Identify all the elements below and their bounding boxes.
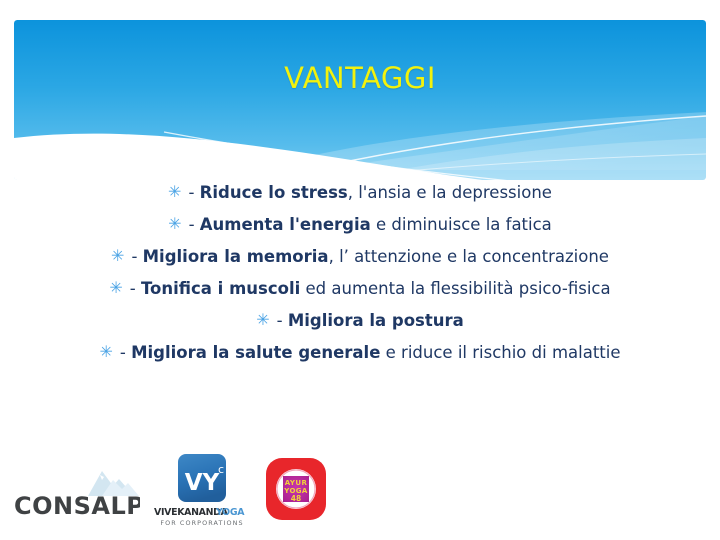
- page-title: VANTAGGI: [14, 61, 706, 95]
- list-item-prefix: -: [188, 183, 199, 202]
- list-item-rest: , l'ansia e la depressione: [348, 183, 552, 202]
- list-item-rest: , l’ attenzione e la concentrazione: [329, 247, 609, 266]
- vyc-tagline: FOR CORPORATIONS: [160, 519, 243, 527]
- vyc-name-accent: YOGA: [215, 507, 245, 518]
- asterisk-bullet-icon: ✳: [109, 278, 122, 297]
- list-item-text: - Tonifica i muscoli ed aumenta la fless…: [130, 279, 611, 298]
- asterisk-bullet-icon: ✳: [168, 182, 181, 201]
- list-item-rest: e riduce il rischio di malattie: [380, 343, 620, 362]
- list-item-emphasis: Migliora la memoria: [143, 247, 329, 266]
- asterisk-bullet-icon: ✳: [99, 342, 112, 361]
- asterisk-bullet-icon: ✳: [168, 214, 181, 233]
- list-item: ✳- Riduce lo stress, l'ansia e la depres…: [14, 176, 706, 208]
- list-item-rest: ed aumenta la flessibilità psico-fisica: [300, 279, 610, 298]
- list-item: ✳- Migliora la salute generale e riduce …: [14, 336, 706, 368]
- consalp-logo: CONSALP: [12, 462, 140, 524]
- list-item-text: - Migliora la postura: [277, 311, 464, 330]
- vyc-mark-text: VY: [185, 470, 220, 496]
- vyc-logo-graphic: VY c VIVEKANANDA YOGA FOR CORPORATIONS: [152, 452, 252, 530]
- vyc-superscript-text: c: [218, 463, 224, 476]
- slide-header-banner: [14, 20, 706, 180]
- bullet-list: ✳- Riduce lo stress, l'ansia e la depres…: [14, 176, 706, 368]
- list-item: ✳- Migliora la postura: [14, 304, 706, 336]
- list-item: ✳- Tonifica i muscoli ed aumenta la fles…: [14, 272, 706, 304]
- list-item-emphasis: Tonifica i muscoli: [141, 279, 300, 298]
- list-item-prefix: -: [130, 279, 141, 298]
- list-item-prefix: -: [189, 215, 200, 234]
- consalp-logo-graphic: CONSALP: [12, 462, 140, 524]
- vyc-logo: VY c VIVEKANANDA YOGA FOR CORPORATIONS: [152, 452, 252, 530]
- logo-strip: CONSALP VY c VIVEKANAN: [0, 448, 720, 532]
- ayuryoga-line3: 48: [291, 494, 301, 503]
- ayuryoga-logo: AYUR YOGA 48: [256, 452, 336, 530]
- ayuryoga-logo-graphic: AYUR YOGA 48: [256, 452, 336, 530]
- ayuryoga-line1: AYUR: [285, 479, 308, 487]
- list-item-prefix: -: [131, 247, 142, 266]
- list-item: ✳- Migliora la memoria, l’ attenzione e …: [14, 240, 706, 272]
- list-item-emphasis: Aumenta l'energia: [200, 215, 371, 234]
- consalp-wordmark: CONSALP: [14, 492, 140, 520]
- list-item-text: - Migliora la salute generale e riduce i…: [120, 343, 621, 362]
- list-item-text: - Riduce lo stress, l'ansia e la depress…: [188, 183, 551, 202]
- asterisk-bullet-icon: ✳: [111, 246, 124, 265]
- header-wave-graphic: [14, 20, 706, 180]
- list-item: ✳- Aumenta l'energia e diminuisce la fat…: [14, 208, 706, 240]
- list-item-text: - Migliora la memoria, l’ attenzione e l…: [131, 247, 609, 266]
- asterisk-bullet-icon: ✳: [256, 310, 269, 329]
- presentation-slide: VANTAGGI ✳- Riduce lo stress, l'ansia e …: [0, 0, 720, 540]
- list-item-emphasis: Migliora la postura: [288, 311, 464, 330]
- list-item-emphasis: Riduce lo stress: [200, 183, 348, 202]
- list-item-rest: e diminuisce la fatica: [371, 215, 552, 234]
- list-item-prefix: -: [120, 343, 131, 362]
- list-item-prefix: -: [277, 311, 288, 330]
- list-item-emphasis: Migliora la salute generale: [131, 343, 380, 362]
- list-item-text: - Aumenta l'energia e diminuisce la fati…: [189, 215, 552, 234]
